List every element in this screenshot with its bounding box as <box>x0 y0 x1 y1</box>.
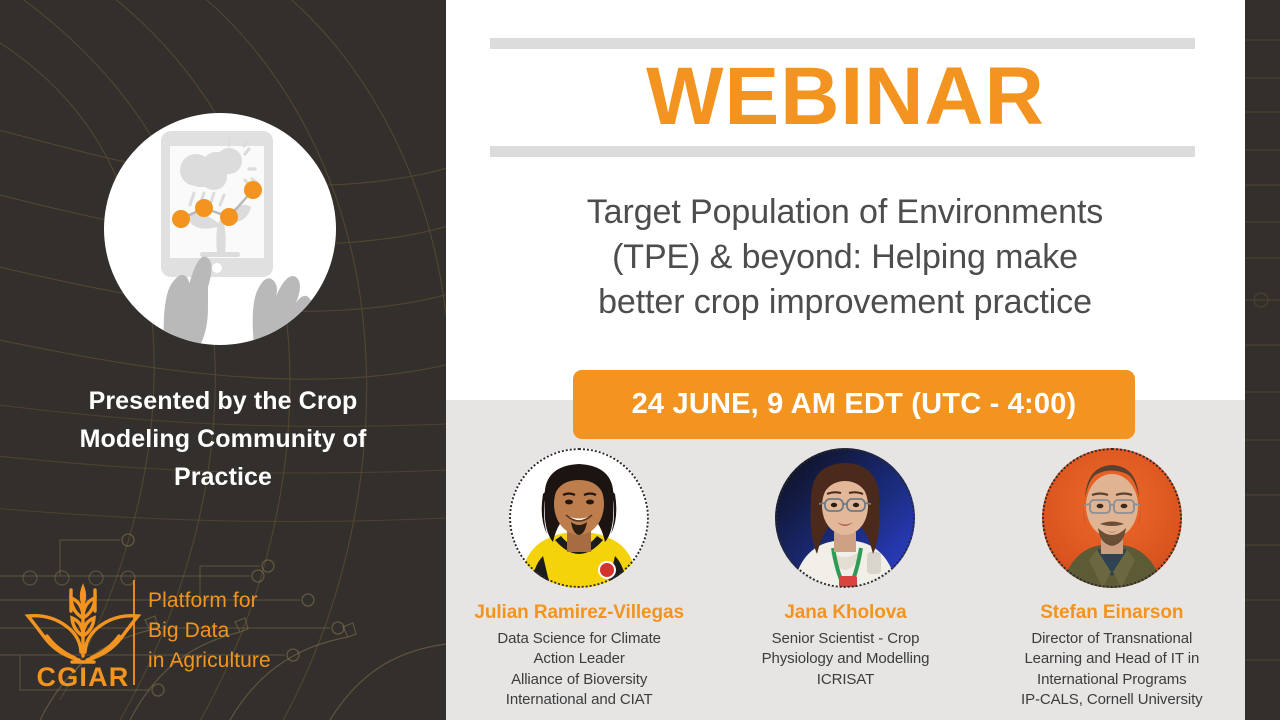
photo-julian-ramirez-villegas <box>509 448 649 588</box>
role-line-2: Learning and Head of IT in <box>1021 649 1203 669</box>
title-line-1: Target Population of Environments <box>470 190 1220 235</box>
cgiar-logo-block: CGIAR Platform for Big Data in Agricultu… <box>24 578 324 690</box>
role-line-2: Action Leader <box>497 649 661 669</box>
photo-stefan-einarson <box>1042 448 1182 588</box>
role-line-1: Senior Scientist - Crop <box>762 629 930 649</box>
tagline-line-1: Platform for <box>148 586 271 616</box>
speaker-role: Senior Scientist - Crop Physiology and M… <box>762 629 930 690</box>
tagline-line-3: in Agriculture <box>148 646 271 676</box>
speaker-role: Data Science for Climate Action Leader A… <box>497 629 661 711</box>
rule-below-kicker <box>490 146 1195 157</box>
right-dark-strip <box>1245 0 1280 720</box>
title-line-3: better crop improvement practice <box>470 280 1220 325</box>
webinar-poster: Presented by the Crop Modeling Community… <box>0 0 1280 720</box>
speaker-card-stefan-einarson: Stefan Einarson Director of Transnationa… <box>979 448 1245 720</box>
role-line-4: International and CIAT <box>497 690 661 710</box>
date-time-label: 24 JUNE, 9 AM EDT (UTC - 4:00) <box>632 388 1077 421</box>
tagline-line-2: Big Data <box>148 616 271 646</box>
date-time-banner: 24 JUNE, 9 AM EDT (UTC - 4:00) <box>573 370 1135 439</box>
tablet-weather-crop-analytics-illustration <box>104 113 336 345</box>
role-line-1: Director of Transnational <box>1021 629 1203 649</box>
role-line-3: Alliance of Bioversity <box>497 670 661 690</box>
role-line-4: IP-CALS, Cornell University <box>1021 690 1203 710</box>
speaker-name: Jana Kholova <box>784 602 906 624</box>
webinar-kicker: WEBINAR <box>446 56 1245 138</box>
photo-jana-kholova <box>775 448 915 588</box>
speaker-name: Stefan Einarson <box>1040 602 1183 624</box>
role-line-3: ICRISAT <box>762 670 930 690</box>
logo-divider <box>133 580 135 685</box>
role-line-1: Data Science for Climate <box>497 629 661 649</box>
speaker-card-julian-ramirez-villegas: Julian Ramirez-Villegas Data Science for… <box>446 448 712 720</box>
title-line-2: (TPE) & beyond: Helping make <box>470 235 1220 280</box>
role-line-2: Physiology and Modelling <box>762 649 930 669</box>
presented-by-text: Presented by the Crop Modeling Community… <box>40 382 406 496</box>
page-title: Target Population of Environments (TPE) … <box>470 190 1220 325</box>
speakers-row: Julian Ramirez-Villegas Data Science for… <box>446 448 1245 720</box>
left-dark-panel: Presented by the Crop Modeling Community… <box>0 0 446 720</box>
right-strip-pattern <box>1245 0 1280 720</box>
speaker-card-jana-kholova: Jana Kholova Senior Scientist - Crop Phy… <box>712 448 978 720</box>
cgiar-wordmark: CGIAR <box>24 662 142 693</box>
speaker-name: Julian Ramirez-Villegas <box>474 602 684 624</box>
rule-above-kicker <box>490 38 1195 49</box>
role-line-3: International Programs <box>1021 670 1203 690</box>
cgiar-tagline: Platform for Big Data in Agriculture <box>148 586 271 675</box>
speaker-role: Director of Transnational Learning and H… <box>1021 629 1203 711</box>
